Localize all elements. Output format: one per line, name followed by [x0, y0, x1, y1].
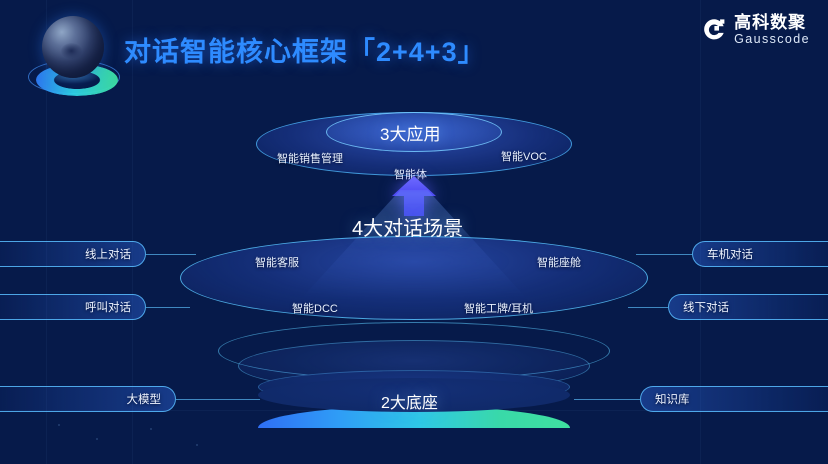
- tag-call-conversation[interactable]: 呼叫对话: [0, 294, 146, 320]
- connector-line: [146, 307, 190, 308]
- connector-line: [176, 399, 260, 400]
- tag-knowledge-base[interactable]: 知识库: [640, 386, 828, 412]
- tier-title-scenarios: 4大对话场景: [352, 212, 463, 241]
- connector-line: [146, 254, 196, 255]
- tag-offline-conversation[interactable]: 线下对话: [668, 294, 828, 320]
- bg-dot: [96, 438, 98, 440]
- connector-line: [574, 399, 640, 400]
- sphere-on-ring-logo: [28, 14, 120, 102]
- connector-line: [636, 254, 692, 255]
- connector-line: [628, 307, 668, 308]
- tag-large-model[interactable]: 大模型: [0, 386, 176, 412]
- brand-name-cn: 高科数聚: [734, 14, 810, 31]
- tier-title-foundation: 2大底座: [381, 389, 438, 413]
- logo-sphere: [42, 16, 104, 78]
- page-title: 对话智能核心框架「2+4+3」: [124, 30, 486, 69]
- bg-dot: [58, 424, 60, 426]
- tier-scenarios-ellipse[interactable]: [180, 236, 648, 320]
- gausscode-g-mark-icon: [702, 17, 727, 42]
- label-smart-voc[interactable]: 智能VOC: [501, 148, 547, 164]
- label-smart-sales-management[interactable]: 智能销售管理: [277, 150, 343, 166]
- tag-in-car-conversation[interactable]: 车机对话: [692, 241, 828, 267]
- brand-name-en: Gausscode: [734, 33, 810, 46]
- brand-logo: 高科数聚 Gausscode: [702, 14, 810, 46]
- label-smart-dcc[interactable]: 智能DCC: [292, 300, 338, 316]
- label-smart-badge-headset[interactable]: 智能工牌/耳机: [464, 300, 533, 316]
- label-smart-cockpit[interactable]: 智能座舱: [537, 254, 581, 270]
- label-smart-customer-service[interactable]: 智能客服: [255, 254, 299, 270]
- bg-dot: [196, 444, 198, 446]
- tag-online-conversation[interactable]: 线上对话: [0, 241, 146, 267]
- tier-title-applications: 3大应用: [380, 120, 440, 145]
- slide-canvas: 对话智能核心框架「2+4+3」 高科数聚 Gausscode 3大应用 智能销售…: [0, 0, 828, 464]
- bg-dot: [150, 428, 152, 430]
